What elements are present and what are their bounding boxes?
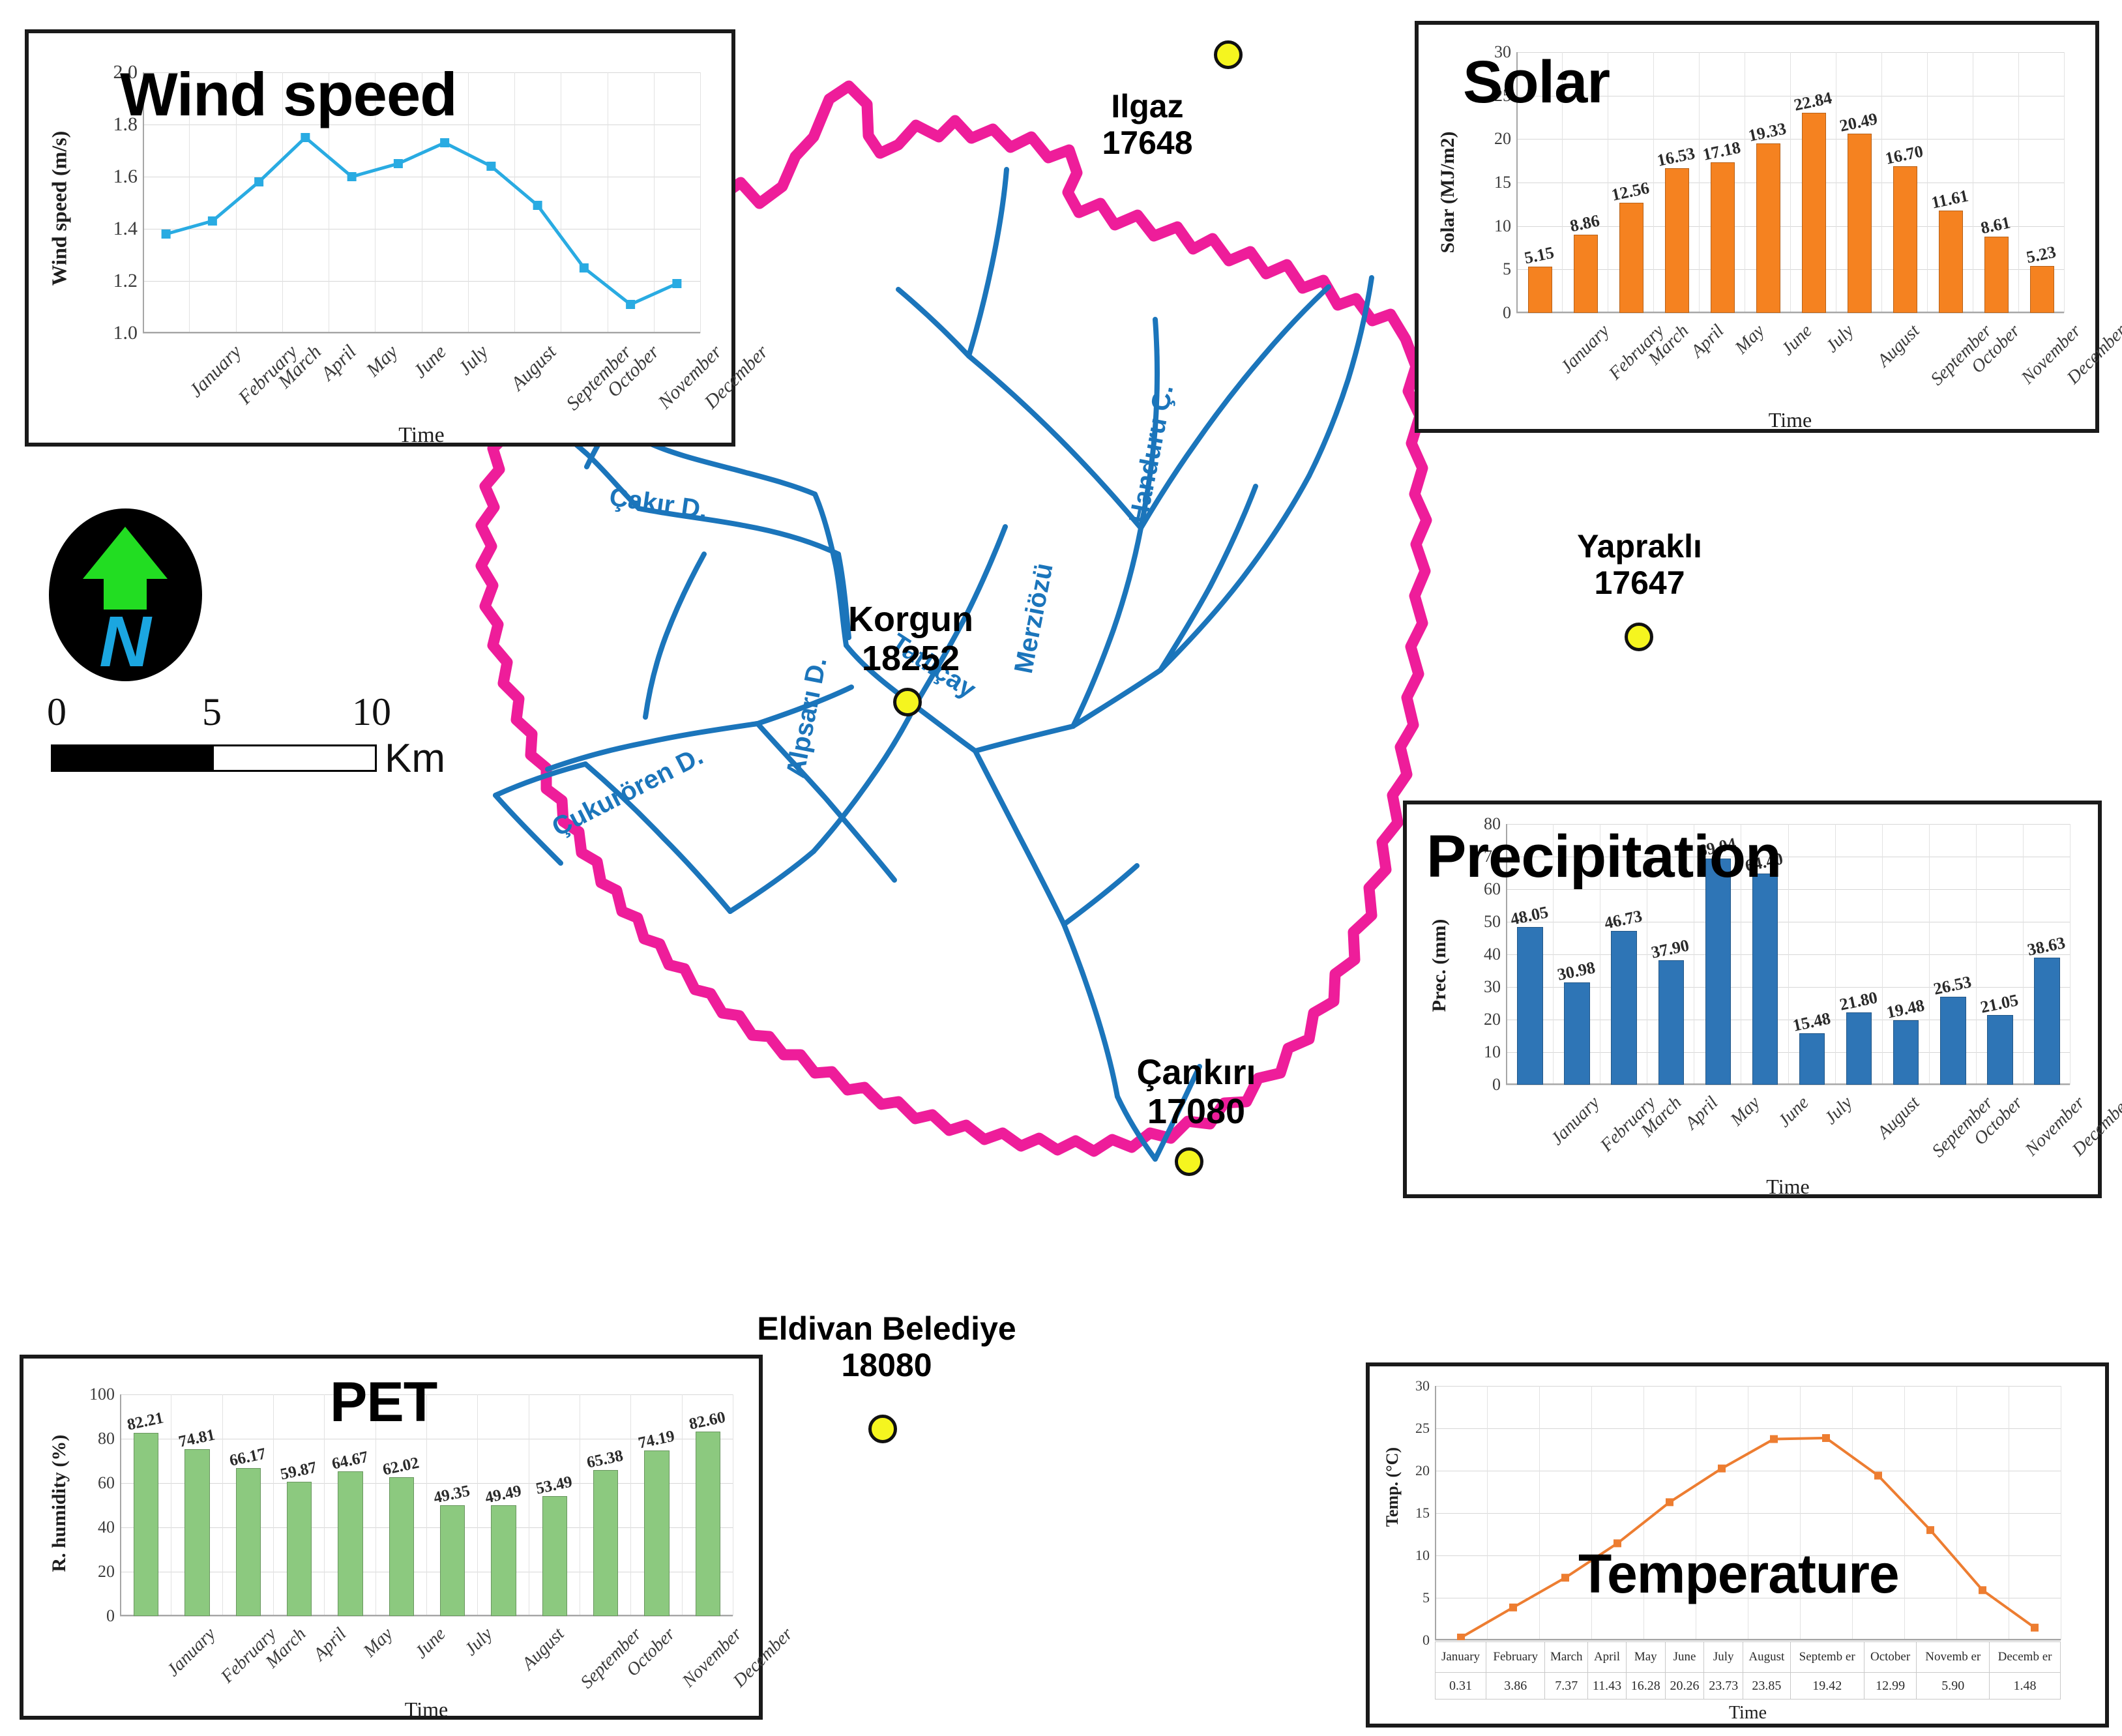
gridline-vertical [1929, 824, 1930, 1085]
table-cell-value: 1.48 [1990, 1673, 2061, 1699]
bar-value-label: 8.86 [1569, 211, 1602, 236]
x-axis-tick: April [1687, 321, 1728, 362]
x-axis-line [1516, 312, 2064, 313]
bar [1939, 211, 1963, 313]
gridline [1506, 1085, 2070, 1085]
bar [1564, 982, 1589, 1085]
bar-value-label: 19.33 [1746, 119, 1788, 147]
bar-value-label: 74.19 [636, 1427, 676, 1452]
station-code-ilgaz: 17648 [1043, 125, 1252, 161]
bar-value-label: 20.49 [1838, 109, 1879, 136]
data-point [1822, 1434, 1830, 1442]
data-point [347, 172, 357, 181]
bar-value-label: 5.23 [2025, 243, 2058, 268]
gridline [143, 333, 700, 334]
x-axis-tick: August [1874, 321, 1924, 372]
y-axis-tick: 30 [1415, 1377, 1430, 1394]
data-point [254, 177, 263, 186]
chart-xlabel-solar: Time [1516, 408, 2064, 432]
temperature-data-table: JanuaryFebruaryMarchAprilMayJuneJulyAugu… [1435, 1641, 2061, 1699]
bar-value-label: 48.05 [1509, 902, 1550, 930]
data-point [580, 263, 589, 272]
scale-bar-graphic [51, 744, 377, 772]
data-point [1718, 1465, 1726, 1473]
gridline-vertical [1882, 824, 1883, 1085]
bar [2034, 958, 2059, 1085]
x-axis-tick: January [1547, 1093, 1604, 1150]
table-cell-value: 19.42 [1790, 1673, 1864, 1699]
x-axis-tick: August [507, 341, 561, 395]
chart-ylabel-pet: R. humidity (%) [48, 1409, 70, 1598]
chart-title-temperature: Temperature [1578, 1542, 1899, 1606]
data-point [1457, 1634, 1465, 1640]
gridline-vertical [1836, 52, 1836, 313]
y-axis-tick: 5 [1422, 1589, 1430, 1606]
data-point [394, 159, 403, 168]
bar-value-label: 16.53 [1655, 143, 1696, 171]
scale-tick-10: 10 [352, 690, 391, 735]
y-axis-tick: 80 [98, 1429, 115, 1449]
table-cell-value: 11.43 [1588, 1673, 1627, 1699]
chart-panel-precipitation: Precipitation Prec. (mm) 807060504030201… [1403, 801, 2102, 1198]
gridline-vertical [529, 1394, 529, 1616]
chart-title-pet: PET [330, 1370, 437, 1435]
bar [1517, 927, 1542, 1085]
gridline-vertical [2018, 52, 2019, 313]
table-cell-month: August [1743, 1642, 1791, 1673]
bar [593, 1470, 618, 1616]
y-axis-tick: 1.0 [113, 322, 138, 344]
gridline-vertical [222, 1394, 223, 1616]
x-axis-tick: May [362, 341, 402, 381]
chart-xlabel-precipitation: Time [1506, 1175, 2070, 1199]
bar [1752, 874, 1778, 1085]
gridline-vertical [2023, 824, 2024, 1085]
chart-panel-pet: PET R. humidity (%) 10080604020082.2174.… [20, 1355, 763, 1720]
bar [1528, 267, 1552, 313]
bar-value-label: 30.98 [1555, 958, 1597, 985]
x-axis-tick: June [1777, 321, 1816, 360]
bar [1848, 134, 1872, 313]
bar [134, 1433, 158, 1617]
x-axis-tick: July [1822, 321, 1859, 357]
y-axis-tick: 0 [106, 1606, 115, 1626]
north-arrow-icon [83, 527, 168, 610]
bar-value-label: 82.60 [687, 1409, 727, 1434]
bar-value-label: 19.48 [1885, 995, 1926, 1023]
table-cell-value: 12.99 [1864, 1673, 1917, 1699]
y-axis-tick: 20 [1484, 1010, 1501, 1029]
station-code-yapraklı: 17647 [1532, 565, 1747, 601]
bar [542, 1496, 567, 1616]
table-row-months: JanuaryFebruaryMarchAprilMayJuneJulyAugu… [1436, 1642, 2061, 1673]
data-point [2031, 1624, 2039, 1632]
bar-value-label: 11.61 [1930, 186, 1970, 213]
station-marker-korgun[interactable] [893, 688, 922, 716]
bar-value-label: 38.63 [2026, 933, 2067, 960]
y-axis-tick: 20 [1415, 1462, 1430, 1479]
data-point [1666, 1498, 1673, 1506]
north-letter: N [99, 602, 153, 681]
bar-value-label: 82.21 [126, 1409, 166, 1435]
gridline-vertical [1653, 52, 1654, 313]
gridline-vertical [273, 1394, 274, 1616]
bar [338, 1471, 362, 1616]
gridline-vertical [682, 1394, 683, 1616]
bar [1705, 859, 1731, 1085]
y-axis-tick: 0 [1492, 1075, 1501, 1095]
bar [1619, 203, 1643, 313]
bar-value-label: 59.87 [279, 1459, 319, 1484]
data-point [626, 300, 635, 309]
station-name-yapraklı: Yapraklı [1532, 528, 1747, 565]
x-axis-tick: April [1681, 1093, 1722, 1134]
gridline-vertical [171, 1394, 171, 1616]
chart-xlabel-temperature: Time [1435, 1703, 2061, 1724]
table-cell-value: 5.90 [1917, 1673, 1990, 1699]
gridline-vertical [1835, 824, 1836, 1085]
y-axis-tick: 40 [1484, 945, 1501, 964]
y-axis-tick: 0 [1422, 1632, 1430, 1649]
table-cell-value: 0.31 [1436, 1673, 1486, 1699]
bar-value-label: 21.80 [1838, 988, 1879, 1015]
data-point [1979, 1586, 1986, 1594]
y-axis-tick: 20 [98, 1562, 115, 1582]
bar [1611, 931, 1636, 1085]
bar [1665, 168, 1689, 313]
gridline-vertical [2070, 824, 2070, 1085]
y-axis-tick: 15 [1415, 1505, 1430, 1522]
x-axis-tick: April [310, 1624, 351, 1665]
y-axis-tick: 25 [1415, 1420, 1430, 1437]
bar-value-label: 37.90 [1650, 935, 1691, 963]
table-cell-month: June [1665, 1642, 1704, 1673]
bar-value-label: 16.70 [1883, 142, 1924, 169]
x-axis-tick: April [317, 341, 361, 385]
gridline [1516, 313, 2064, 314]
y-axis-tick: 1.2 [113, 270, 138, 292]
gridline-vertical [1745, 52, 1745, 313]
station-marker-cankiri[interactable] [1175, 1147, 1203, 1176]
gridline-vertical [700, 72, 701, 333]
table-cell-month: May [1626, 1642, 1665, 1673]
gridline-vertical [580, 1394, 580, 1616]
bar [696, 1432, 720, 1616]
chart-xlabel-pet: Time [120, 1698, 733, 1722]
station-marker-yapraklı[interactable] [1625, 623, 1653, 651]
table-cell-value: 7.37 [1545, 1673, 1588, 1699]
scale-tick-0: 0 [47, 690, 66, 735]
scale-unit-label: Km [385, 735, 445, 782]
gridline-vertical [2064, 52, 2065, 313]
x-axis-tick: July [454, 341, 493, 379]
x-axis-tick: July [1820, 1093, 1857, 1129]
bar [1756, 143, 1780, 313]
table-cell-month: January [1436, 1642, 1486, 1673]
data-point [672, 279, 681, 288]
table-cell-value: 23.73 [1704, 1673, 1743, 1699]
chart-panel-temperature: Temperature Temp. (°C) 302520151050 Janu… [1366, 1362, 2109, 1728]
gridline-vertical [1790, 52, 1791, 313]
data-point [208, 216, 217, 226]
bar-value-label: 66.17 [228, 1445, 267, 1470]
chart-panel-solar: Solar Solar (MJ/m2) 3025201510505.158.86… [1415, 21, 2099, 433]
table-row-values: 0.313.867.3711.4316.2820.2623.7323.8519.… [1436, 1673, 2061, 1699]
y-axis-tick: 40 [98, 1518, 115, 1537]
gridline-vertical [477, 1394, 478, 1616]
x-axis-tick: July [461, 1624, 497, 1660]
bar [1658, 960, 1684, 1085]
y-axis-tick: 10 [1494, 216, 1511, 236]
data-point [440, 138, 449, 147]
station-label-cankiri: Çankırı 17080 [1089, 1053, 1304, 1132]
north-arrow-glyph: N [49, 508, 202, 681]
y-axis-tick: 30 [1484, 977, 1501, 997]
bar [1846, 1012, 1872, 1085]
bar [1940, 997, 1966, 1085]
bar-value-label: 15.48 [1791, 1008, 1832, 1036]
table-cell-month: February [1486, 1642, 1545, 1673]
station-label-yapraklı: Yapraklı 17647 [1532, 528, 1747, 601]
figure-canvas: Çatak D. Kara D. Çakır D. Çukurören D. A… [0, 0, 2122, 1736]
y-axis-tick: 1.4 [113, 218, 138, 240]
bar-value-label: 65.38 [585, 1447, 625, 1472]
north-arrow: N [49, 508, 202, 681]
bar-value-label: 49.49 [483, 1482, 523, 1507]
gridline-vertical [1881, 52, 1882, 313]
station-marker-ilgaz[interactable] [1214, 40, 1243, 69]
bar [236, 1468, 261, 1616]
data-point [1874, 1472, 1882, 1480]
bar [1799, 1033, 1825, 1085]
x-axis-line [120, 1615, 733, 1616]
gridline-vertical [2061, 1386, 2061, 1640]
station-label-ilgaz: Ilgaz 17648 [1043, 88, 1252, 161]
x-axis-tick: June [1775, 1093, 1814, 1132]
data-point [162, 229, 171, 239]
y-axis-tick: 15 [1494, 173, 1511, 192]
y-axis-tick: 100 [89, 1385, 115, 1404]
bar-value-label: 62.02 [381, 1454, 420, 1480]
table-cell-value: 23.85 [1743, 1673, 1791, 1699]
y-axis-tick: 10 [1484, 1042, 1501, 1062]
bar-value-label: 46.73 [1602, 907, 1643, 934]
bar [1802, 113, 1826, 313]
bar [491, 1505, 516, 1616]
bar [644, 1450, 669, 1616]
table-cell-month: Decemb er [1990, 1642, 2061, 1673]
station-name-ilgaz: Ilgaz [1043, 88, 1252, 125]
gridline [120, 1616, 733, 1617]
bar [1893, 166, 1917, 313]
x-axis-tick: May [1731, 321, 1769, 359]
station-code-korgun: 18252 [803, 639, 1018, 678]
x-axis-tick: August [1873, 1093, 1924, 1143]
y-axis-tick: 0 [1503, 303, 1511, 323]
gridline-vertical [1788, 824, 1789, 1085]
x-axis-line [1506, 1083, 2070, 1085]
chart-panel-wind-speed: Wind speed Wind speed (m/s) 2.01.81.61.4… [25, 29, 735, 447]
y-axis-tick: 20 [1494, 129, 1511, 149]
bar-value-label: 26.53 [1932, 973, 1973, 1000]
bar-value-label: 22.84 [1792, 89, 1833, 116]
gridline-vertical [324, 1394, 325, 1616]
bar-value-label: 64.67 [330, 1449, 370, 1474]
y-axis-tick: 60 [98, 1473, 115, 1493]
bar [1984, 237, 2009, 313]
bar-value-label: 17.18 [1701, 138, 1742, 165]
scale-tick-5: 5 [202, 690, 222, 735]
y-axis-line [120, 1394, 121, 1616]
x-axis-tick: August [518, 1624, 568, 1675]
chart-xlabel-wind-speed: Time [143, 423, 700, 448]
bar-value-label: 5.15 [1523, 243, 1556, 269]
data-point [301, 133, 310, 142]
chart-title-wind-speed: Wind speed [120, 59, 457, 130]
y-axis-tick: 1.6 [113, 166, 138, 188]
x-axis-tick: June [409, 341, 450, 383]
chart-ylabel-solar: Solar (MJ/m2) [1437, 95, 1459, 290]
bar [2030, 266, 2054, 313]
table-cell-value: 16.28 [1626, 1673, 1665, 1699]
x-axis-tick: May [1727, 1093, 1765, 1130]
bar-value-label: 21.05 [1979, 990, 2020, 1018]
bar-value-label: 53.49 [534, 1473, 574, 1499]
bar [287, 1482, 312, 1616]
bar-value-label: 74.81 [177, 1426, 216, 1451]
chart-ylabel-precipitation: Prec. (mm) [1428, 871, 1451, 1060]
gridline [1435, 1640, 2061, 1641]
bar [1987, 1015, 2012, 1085]
x-axis-tick: January [163, 1624, 220, 1681]
station-marker-eldivan[interactable] [868, 1415, 897, 1443]
gridline-vertical [1927, 52, 1928, 313]
scale-bar: 0 5 10 Km [39, 684, 456, 782]
table-cell-month: April [1588, 1642, 1627, 1673]
bar [1711, 162, 1735, 313]
bar [1574, 235, 1598, 313]
data-point [1926, 1526, 1934, 1534]
table-cell-value: 20.26 [1665, 1673, 1704, 1699]
station-name-eldivan: Eldivan Belediye [691, 1310, 1082, 1347]
y-axis-tick: 5 [1503, 259, 1511, 279]
gridline-vertical [630, 1394, 631, 1616]
bar-value-label: 12.56 [1610, 178, 1651, 205]
table-cell-month: October [1864, 1642, 1917, 1673]
bar-value-label: 8.61 [1979, 213, 2012, 239]
gridline-vertical [1976, 824, 1977, 1085]
data-point [1509, 1604, 1517, 1611]
chart-title-solar: Solar [1463, 48, 1610, 117]
chart-ylabel-temperature: Temp. (°C) [1383, 1422, 1402, 1552]
table-cell-month: Novemb er [1917, 1642, 1990, 1673]
station-code-cankiri: 17080 [1089, 1092, 1304, 1131]
x-axis-tick: May [359, 1624, 397, 1662]
table-cell-month: March [1545, 1642, 1588, 1673]
bar [1893, 1020, 1919, 1085]
bar [389, 1477, 414, 1616]
bar [440, 1505, 465, 1616]
gridline-vertical [1973, 52, 1973, 313]
x-axis-tick: June [411, 1624, 450, 1663]
bar-value-label: 49.35 [432, 1482, 472, 1508]
data-point [533, 201, 542, 210]
data-point [1561, 1574, 1569, 1582]
table-cell-value: 3.86 [1486, 1673, 1545, 1699]
chart-title-precipitation: Precipitation [1426, 823, 1781, 891]
station-name-cankiri: Çankırı [1089, 1053, 1304, 1092]
table-cell-month: Septemb er [1790, 1642, 1864, 1673]
y-axis-tick: 50 [1484, 912, 1501, 932]
gridline-vertical [733, 1394, 733, 1616]
table-cell-month: July [1704, 1642, 1743, 1673]
y-axis-tick: 10 [1415, 1547, 1430, 1564]
data-point [486, 162, 495, 171]
gridline-vertical [1699, 52, 1700, 313]
bar [184, 1449, 209, 1616]
data-point [1770, 1435, 1778, 1443]
station-name-korgun: Korgun [803, 600, 1018, 639]
station-label-korgun: Korgun 18252 [803, 600, 1018, 679]
chart-ylabel-wind-speed: Wind speed (m/s) [48, 101, 72, 316]
